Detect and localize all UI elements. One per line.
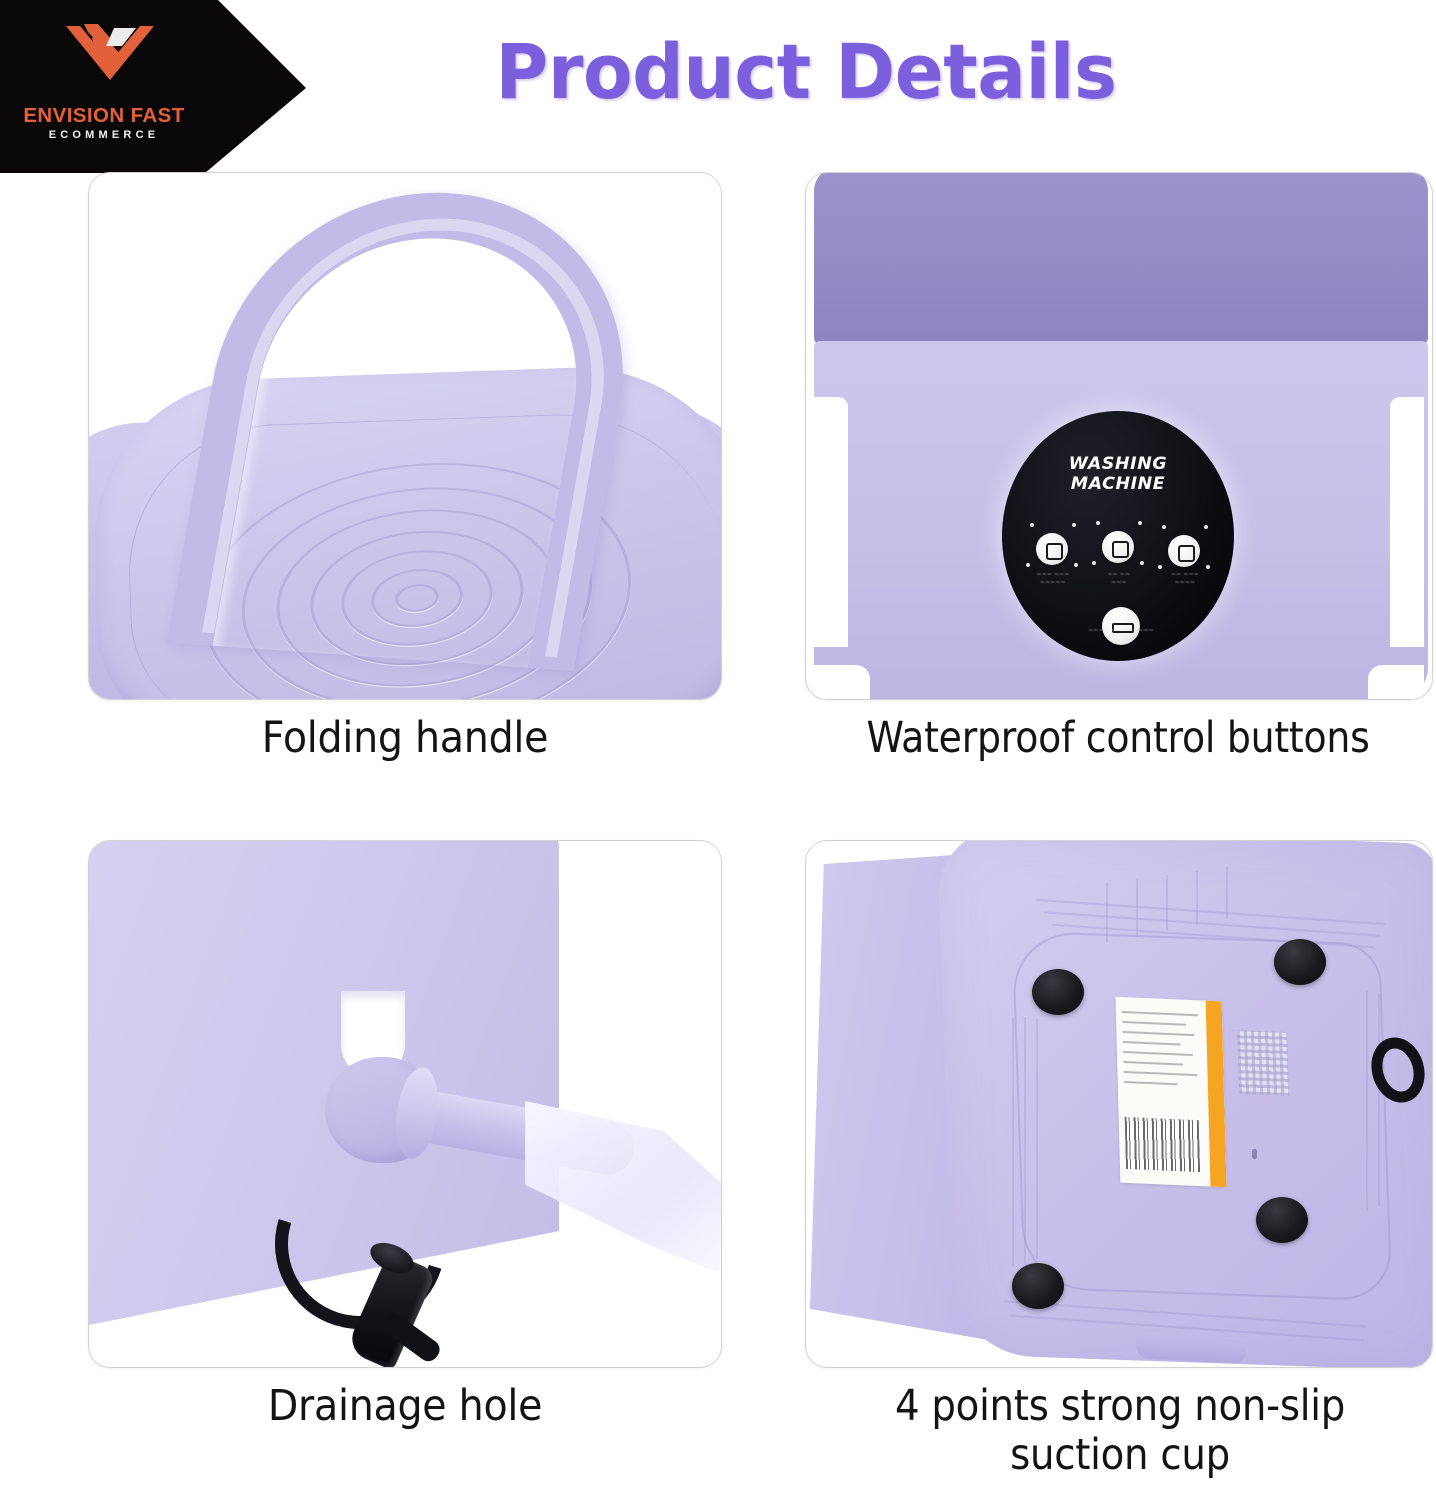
suction-cup-illustration: [806, 841, 1432, 1367]
brand-name: ENVISION FAST: [0, 104, 208, 128]
wash-mode-label: ~~~ ~~~~~~~~: [1024, 571, 1082, 586]
page-title: Product Details: [331, 34, 1281, 110]
spin-mode-button[interactable]: [1102, 531, 1134, 563]
underside-vent-dot: [1252, 1149, 1257, 1159]
suction-cup-bottom-right: [1256, 1197, 1308, 1243]
label-qr-code: [1237, 1030, 1289, 1096]
product-details-page: ENVISION FAST ECOMMERCE Product Details …: [0, 0, 1436, 1500]
caption-drainage-hole: Drainage hole: [113, 1382, 696, 1431]
water-stream: [525, 1101, 722, 1291]
caption-suction-cup: 4 points strong non-slip suction cup: [832, 1382, 1408, 1480]
control-buttons-illustration: WASHING MACHINE ~~~ ~~~~~~: [806, 173, 1432, 699]
caption-control-buttons: Waterproof control buttons: [829, 714, 1406, 763]
drain-mode-button[interactable]: [1168, 535, 1200, 567]
body-corner-bottom-right: [1368, 665, 1424, 699]
brand-badge: ENVISION FAST ECOMMERCE: [0, 0, 306, 173]
suction-cup-bottom-left: [1012, 1263, 1064, 1309]
body-corner-bottom-left: [814, 665, 870, 699]
label-barcode: [1125, 1117, 1200, 1172]
caption-suction-line1: 4 points strong non-slip: [895, 1381, 1345, 1431]
folding-handle-illustration: [89, 173, 721, 699]
product-image-control-buttons: WASHING MACHINE ~~~ ~~~~~~: [805, 172, 1433, 700]
control-panel-title-line2: MACHINE: [1071, 474, 1165, 494]
suction-cup-top-left: [1032, 969, 1084, 1015]
control-panel-dial[interactable]: WASHING MACHINE ~~~ ~~~~~~: [1002, 411, 1234, 661]
machine-top-lid: [814, 172, 1428, 347]
caption-suction-line2: suction cup: [1010, 1430, 1230, 1480]
product-image-suction-cup: [805, 840, 1433, 1368]
power-button[interactable]: [1102, 607, 1140, 645]
chevron-logo-icon: [62, 18, 158, 100]
brand-subtitle: ECOMMERCE: [0, 129, 208, 141]
control-panel-title: WASHING MACHINE: [1000, 455, 1237, 494]
wash-mode-button[interactable]: [1036, 533, 1068, 565]
drain-mode-label: ~~ ~~~~~~~: [1156, 571, 1214, 586]
body-notch-left: [814, 397, 848, 647]
caption-folding-handle: Folding handle: [113, 714, 696, 763]
body-notch-right: [1390, 397, 1424, 647]
spin-mode-label: ~~ ~~~~~: [1090, 571, 1148, 586]
product-spec-label: [1115, 997, 1226, 1188]
product-image-drainage-hole: [88, 840, 722, 1368]
control-panel-title-line1: WASHING: [1069, 454, 1167, 474]
power-label: ~~~~ ~~~ ~~~~~: [1046, 627, 1196, 635]
product-image-folding-handle: [88, 172, 722, 700]
drainage-hole-illustration: [89, 841, 721, 1367]
suction-cup-top-right: [1274, 939, 1326, 985]
